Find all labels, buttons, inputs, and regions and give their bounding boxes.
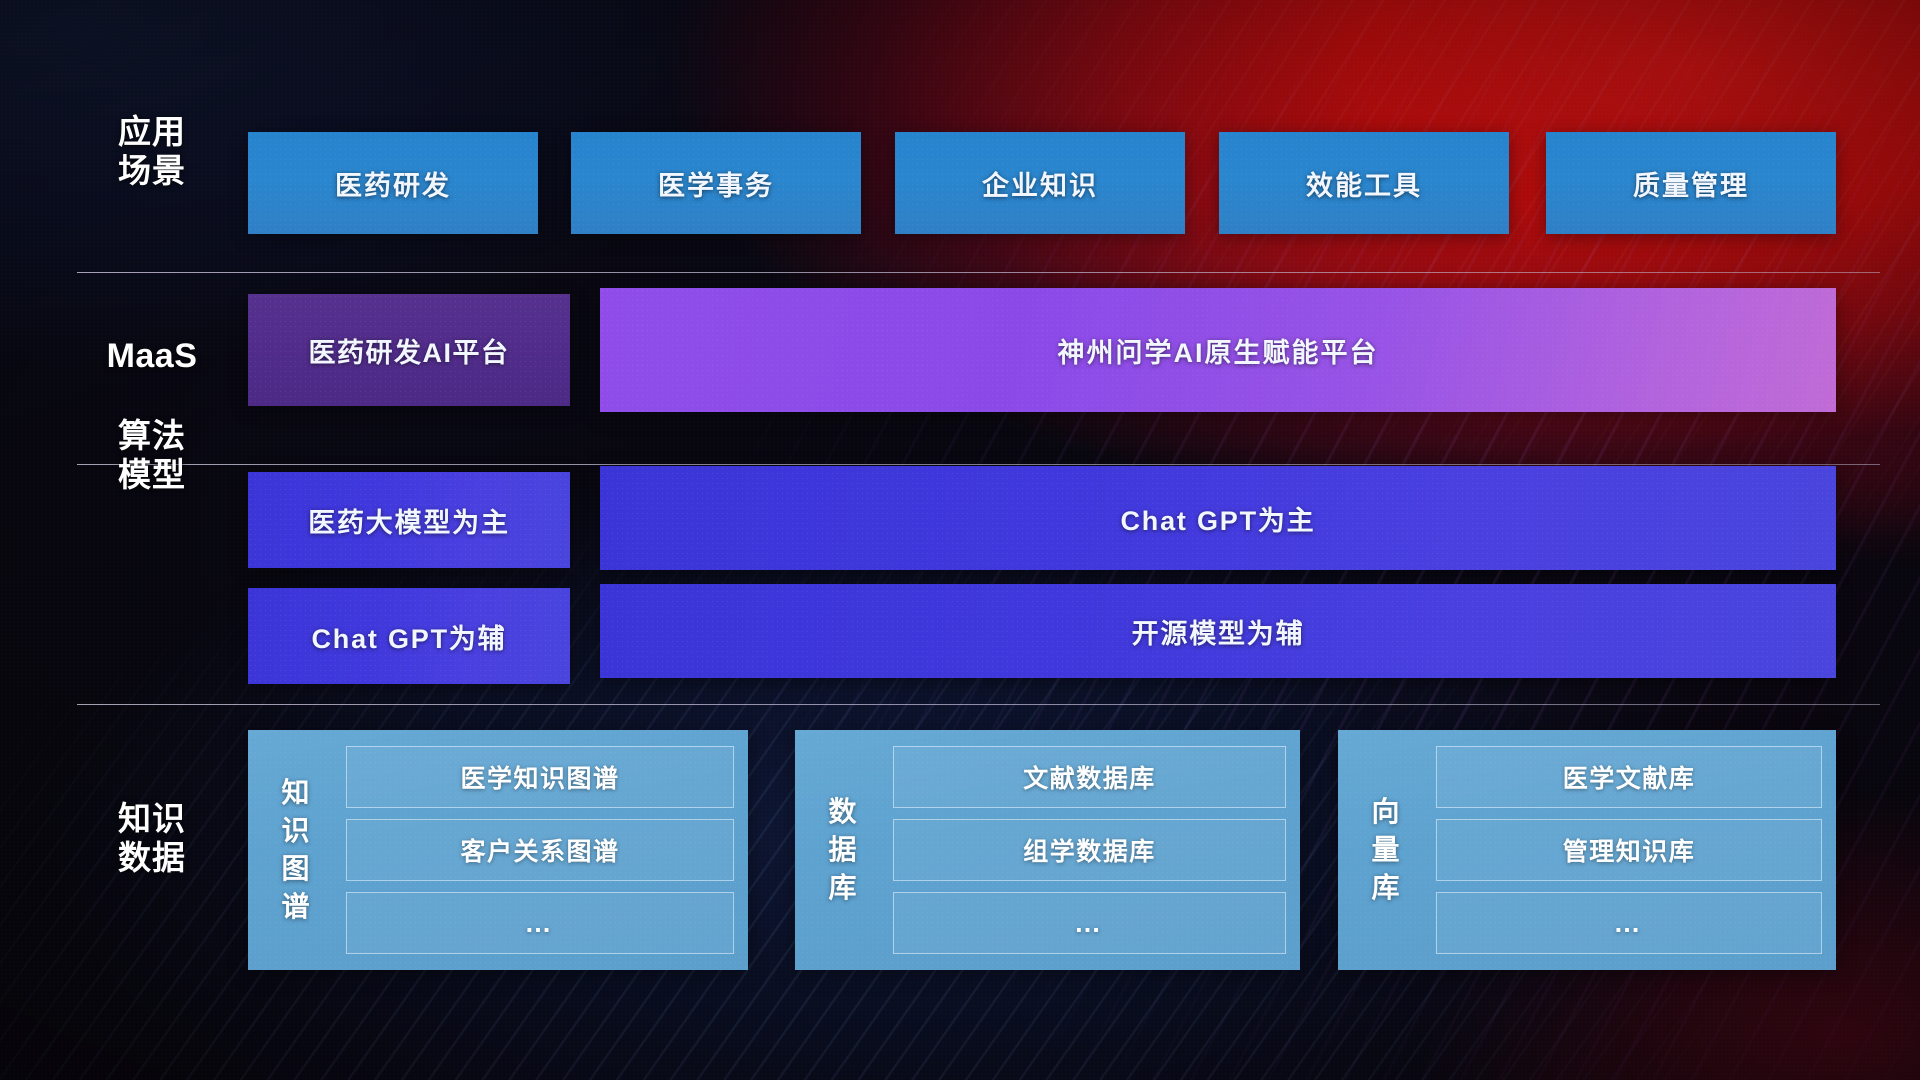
vertical-label-char: 识 <box>281 813 310 849</box>
application-box-medical-affairs[interactable]: 医学事务 <box>571 132 861 234</box>
vertical-label-char: 向 <box>1371 794 1400 830</box>
knowledge-item-management-knowledge-store[interactable]: 管理知识库 <box>1436 819 1822 881</box>
knowledge-group-item-list: 医学文献库 管理知识库 … <box>1422 746 1822 954</box>
row-label-application-line2: 场景 <box>77 152 227 191</box>
knowledge-item-literature-database[interactable]: 文献数据库 <box>893 746 1286 808</box>
algorithm-box-pharma-llm-primary[interactable]: 医药大模型为主 <box>248 472 570 568</box>
maas-box-drug-rd-ai-platform[interactable]: 医药研发AI平台 <box>248 294 570 406</box>
knowledge-item-omics-database[interactable]: 组学数据库 <box>893 819 1286 881</box>
maas-box-shenzhou-wenxue-platform[interactable]: 神州问学AI原生赋能平台 <box>600 288 1836 412</box>
row-label-algorithm-line2: 模型 <box>77 456 227 495</box>
application-box-label: 医学事务 <box>658 164 774 203</box>
divider-algorithm-knowledge <box>77 704 1880 705</box>
application-box-efficiency-tools[interactable]: 效能工具 <box>1219 132 1509 234</box>
algorithm-box-label: Chat GPT为辅 <box>311 617 506 656</box>
row-label-algorithm-line1: 算法 <box>77 417 227 456</box>
row-label-maas: MaaS <box>77 336 227 376</box>
divider-maas-algorithm <box>77 464 1880 465</box>
vertical-label-char: 知 <box>281 775 310 811</box>
vertical-label-char: 库 <box>1371 870 1400 906</box>
architecture-stack: 应用 场景 医药研发 医学事务 企业知识 效能工具 质量管理 MaaS 医药研发… <box>0 0 1920 1080</box>
application-box-label: 效能工具 <box>1306 164 1422 203</box>
application-box-drug-rd[interactable]: 医药研发 <box>248 132 538 234</box>
row-label-knowledge-line2: 数据 <box>77 839 227 878</box>
knowledge-item-customer-relation-graph[interactable]: 客户关系图谱 <box>346 819 734 881</box>
application-box-quality-management[interactable]: 质量管理 <box>1546 132 1836 234</box>
application-box-label: 质量管理 <box>1633 164 1749 203</box>
knowledge-item-more[interactable]: … <box>1436 892 1822 954</box>
knowledge-group-vertical-label: 知 识 图 谱 <box>260 746 332 954</box>
knowledge-item-medical-literature-store[interactable]: 医学文献库 <box>1436 746 1822 808</box>
maas-box-label: 医药研发AI平台 <box>309 331 510 370</box>
algorithm-box-chatgpt-secondary[interactable]: Chat GPT为辅 <box>248 588 570 684</box>
vertical-label-char: 数 <box>828 794 857 830</box>
knowledge-item-medical-knowledge-graph[interactable]: 医学知识图谱 <box>346 746 734 808</box>
knowledge-group-vertical-label: 数 据 库 <box>807 746 879 954</box>
slide-canvas: 应用 场景 医药研发 医学事务 企业知识 效能工具 质量管理 MaaS 医药研发… <box>0 0 1920 1080</box>
vertical-label-char: 据 <box>828 832 857 868</box>
application-box-enterprise-knowledge[interactable]: 企业知识 <box>895 132 1185 234</box>
row-label-maas-line1: MaaS <box>77 336 227 376</box>
row-label-application: 应用 场景 <box>77 113 227 191</box>
maas-box-label: 神州问学AI原生赋能平台 <box>1058 331 1379 370</box>
knowledge-group-item-list: 文献数据库 组学数据库 … <box>879 746 1286 954</box>
vertical-label-char: 量 <box>1371 832 1400 868</box>
knowledge-group-knowledge-graph: 知 识 图 谱 医学知识图谱 客户关系图谱 … <box>248 730 748 970</box>
algorithm-box-label: Chat GPT为主 <box>1120 499 1315 538</box>
row-label-algorithm: 算法 模型 <box>77 417 227 495</box>
algorithm-box-opensource-secondary[interactable]: 开源模型为辅 <box>600 584 1836 678</box>
knowledge-group-vertical-label: 向 量 库 <box>1350 746 1422 954</box>
knowledge-group-item-list: 医学知识图谱 客户关系图谱 … <box>332 746 734 954</box>
algorithm-box-label: 开源模型为辅 <box>1132 612 1305 651</box>
application-box-label: 企业知识 <box>982 164 1098 203</box>
knowledge-group-database: 数 据 库 文献数据库 组学数据库 … <box>795 730 1300 970</box>
vertical-label-char: 图 <box>281 851 310 887</box>
vertical-label-char: 库 <box>828 870 857 906</box>
knowledge-item-more[interactable]: … <box>893 892 1286 954</box>
divider-application-maas <box>77 272 1880 273</box>
algorithm-box-label: 医药大模型为主 <box>308 501 510 540</box>
application-box-label: 医药研发 <box>335 164 451 203</box>
knowledge-group-vector-store: 向 量 库 医学文献库 管理知识库 … <box>1338 730 1836 970</box>
knowledge-item-more[interactable]: … <box>346 892 734 954</box>
algorithm-box-chatgpt-primary[interactable]: Chat GPT为主 <box>600 466 1836 570</box>
row-label-application-line1: 应用 <box>77 113 227 152</box>
vertical-label-char: 谱 <box>281 889 310 925</box>
row-label-knowledge-line1: 知识 <box>77 800 227 839</box>
row-label-knowledge: 知识 数据 <box>77 800 227 878</box>
